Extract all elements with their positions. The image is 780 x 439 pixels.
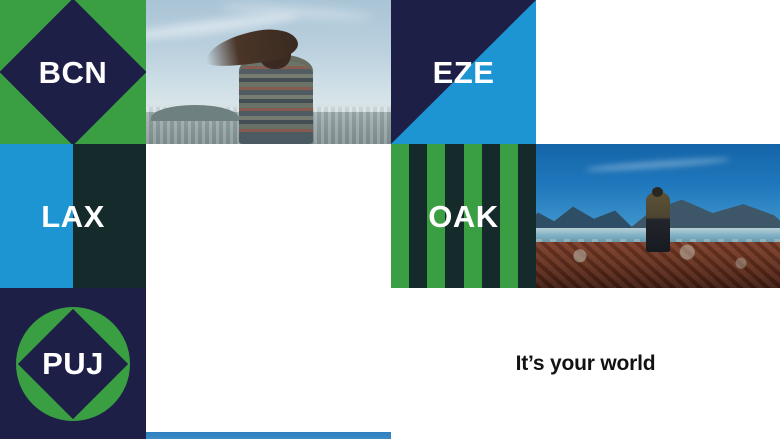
brand-identity-board: BCN EZE LAX: [0, 0, 780, 439]
tile-code-eze: EZE: [433, 57, 495, 88]
sky-layer: [146, 432, 391, 439]
tile-bcn[interactable]: BCN: [0, 0, 146, 144]
stripe: [391, 144, 409, 288]
photo-desert: [146, 432, 391, 439]
tile-code-puj: PUJ: [42, 348, 104, 379]
stripe: [518, 144, 536, 288]
tagline-panel: It’s your world: [391, 288, 780, 439]
tile-code-bcn: BCN: [39, 57, 108, 88]
tagline-text: It’s your world: [516, 352, 656, 376]
tile-code-lax: LAX: [41, 201, 105, 232]
tile-puj[interactable]: PUJ: [0, 288, 146, 439]
striped-sweater: [239, 61, 313, 136]
stripe: [409, 144, 427, 288]
tile-lax[interactable]: LAX: [0, 144, 146, 288]
tile-oak[interactable]: OAK: [391, 144, 536, 288]
tile-code-oak: OAK: [428, 201, 498, 232]
person-body: [646, 192, 670, 252]
photo-altiplano: [536, 144, 780, 288]
photo-barcelona: [146, 0, 391, 144]
stripe: [500, 144, 518, 288]
tile-eze[interactable]: EZE: [391, 0, 536, 144]
